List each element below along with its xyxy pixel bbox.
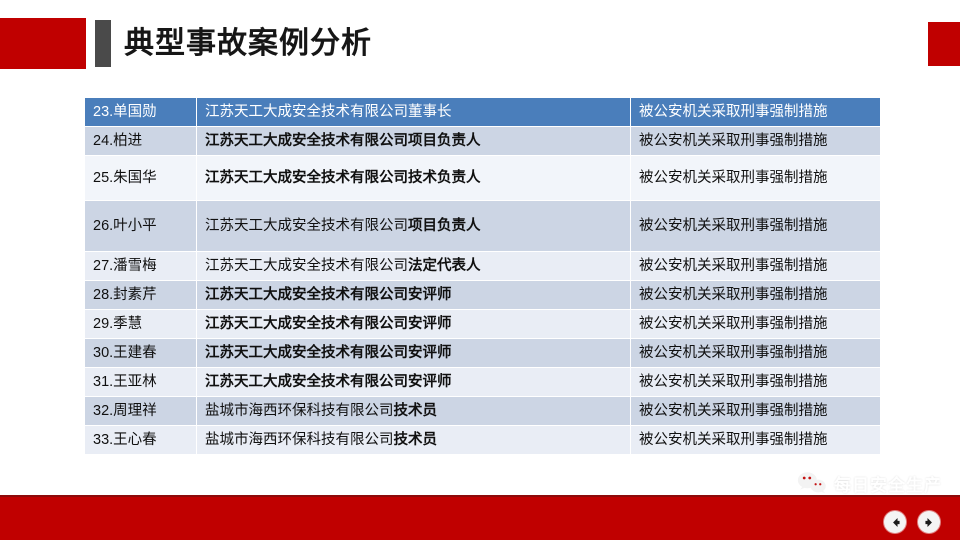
cell-legal-measure: 被公安机关采取刑事强制措施	[631, 156, 881, 201]
table-row[interactable]: 26.叶小平江苏天工大成安全技术有限公司项目负责人被公安机关采取刑事强制措施	[85, 201, 881, 252]
cell-person-name: 25.朱国华	[85, 156, 197, 201]
cell-person-name: 23.单国勋	[85, 98, 197, 127]
table-row[interactable]: 28.封素芹江苏天工大成安全技术有限公司安评师被公安机关采取刑事强制措施	[85, 281, 881, 310]
table-body: 23.单国勋江苏天工大成安全技术有限公司董事长被公安机关采取刑事强制措施24.柏…	[85, 98, 881, 455]
cell-legal-measure: 被公安机关采取刑事强制措施	[631, 397, 881, 426]
cell-company-role: 江苏天工大成安全技术有限公司董事长	[197, 98, 631, 127]
role-title-text: 技术员	[394, 403, 438, 419]
casualty-table: 23.单国勋江苏天工大成安全技术有限公司董事长被公安机关采取刑事强制措施24.柏…	[84, 97, 881, 455]
cell-person-name: 31.王亚林	[85, 368, 197, 397]
role-title-text: 项目负责人	[408, 218, 481, 234]
arrow-right-icon[interactable]	[918, 511, 940, 533]
company-role-text: 江苏天工大成安全技术有限公司安评师	[205, 316, 452, 332]
cell-legal-measure: 被公安机关采取刑事强制措施	[631, 339, 881, 368]
cell-legal-measure: 被公安机关采取刑事强制措施	[631, 426, 881, 455]
cell-company-role: 江苏天工大成安全技术有限公司安评师	[197, 368, 631, 397]
cell-legal-measure: 被公安机关采取刑事强制措施	[631, 98, 881, 127]
wechat-icon	[797, 470, 827, 496]
cell-person-name: 27.潘雪梅	[85, 252, 197, 281]
cell-legal-measure: 被公安机关采取刑事强制措施	[631, 252, 881, 281]
cell-company-role: 盐城市海西环保科技有限公司技术员	[197, 397, 631, 426]
cell-person-name: 33.王心春	[85, 426, 197, 455]
table-row[interactable]: 31.王亚林江苏天工大成安全技术有限公司安评师被公安机关采取刑事强制措施	[85, 368, 881, 397]
casualty-table-container: 23.单国勋江苏天工大成安全技术有限公司董事长被公安机关采取刑事强制措施24.柏…	[84, 97, 880, 455]
footer-red-bar	[0, 495, 960, 540]
cell-company-role: 盐城市海西环保科技有限公司技术员	[197, 426, 631, 455]
cell-person-name: 24.柏进	[85, 127, 197, 156]
company-name-text: 盐城市海西环保科技有限公司	[205, 432, 394, 448]
cell-legal-measure: 被公安机关采取刑事强制措施	[631, 368, 881, 397]
cell-company-role: 江苏天工大成安全技术有限公司安评师	[197, 310, 631, 339]
cell-person-name: 29.季慧	[85, 310, 197, 339]
slide-navigation[interactable]	[884, 511, 940, 533]
cell-company-role: 江苏天工大成安全技术有限公司项目负责人	[197, 201, 631, 252]
company-role-text: 江苏天工大成安全技术有限公司技术负责人	[205, 170, 481, 186]
watermark-label: 每日安全生产	[834, 471, 942, 496]
cell-company-role: 江苏天工大成安全技术有限公司项目负责人	[197, 127, 631, 156]
company-name-text: 江苏天工大成安全技术有限公司	[205, 258, 408, 274]
role-title-text: 技术员	[394, 432, 438, 448]
header-red-block-right	[928, 22, 960, 66]
company-name-text: 江苏天工大成安全技术有限公司	[205, 218, 408, 234]
table-row[interactable]: 33.王心春盐城市海西环保科技有限公司技术员被公安机关采取刑事强制措施	[85, 426, 881, 455]
table-row[interactable]: 30.王建春江苏天工大成安全技术有限公司安评师被公安机关采取刑事强制措施	[85, 339, 881, 368]
cell-person-name: 32.周理祥	[85, 397, 197, 426]
table-row[interactable]: 29.季慧江苏天工大成安全技术有限公司安评师被公安机关采取刑事强制措施	[85, 310, 881, 339]
cell-person-name: 26.叶小平	[85, 201, 197, 252]
page-title: 典型事故案例分析	[124, 22, 372, 66]
company-role-text: 江苏天工大成安全技术有限公司项目负责人	[205, 133, 481, 149]
cell-company-role: 江苏天工大成安全技术有限公司安评师	[197, 339, 631, 368]
cell-company-role: 江苏天工大成安全技术有限公司安评师	[197, 281, 631, 310]
table-row[interactable]: 32.周理祥盐城市海西环保科技有限公司技术员被公安机关采取刑事强制措施	[85, 397, 881, 426]
company-role-text: 江苏天工大成安全技术有限公司安评师	[205, 374, 452, 390]
company-role-text: 江苏天工大成安全技术有限公司安评师	[205, 345, 452, 361]
cell-company-role: 江苏天工大成安全技术有限公司技术负责人	[197, 156, 631, 201]
company-role-text: 江苏天工大成安全技术有限公司安评师	[205, 287, 452, 303]
table-row[interactable]: 25.朱国华江苏天工大成安全技术有限公司技术负责人被公安机关采取刑事强制措施	[85, 156, 881, 201]
cell-legal-measure: 被公安机关采取刑事强制措施	[631, 201, 881, 252]
header-gray-accent-bar	[95, 20, 111, 67]
company-name-text: 盐城市海西环保科技有限公司	[205, 403, 394, 419]
cell-company-role: 江苏天工大成安全技术有限公司法定代表人	[197, 252, 631, 281]
cell-legal-measure: 被公安机关采取刑事强制措施	[631, 127, 881, 156]
slide-canvas: 典型事故案例分析 23.单国勋江苏天工大成安全技术有限公司董事长被公安机关采取刑…	[0, 0, 960, 540]
cell-person-name: 30.王建春	[85, 339, 197, 368]
table-row[interactable]: 27.潘雪梅江苏天工大成安全技术有限公司法定代表人被公安机关采取刑事强制措施	[85, 252, 881, 281]
cell-legal-measure: 被公安机关采取刑事强制措施	[631, 310, 881, 339]
watermark: 每日安全生产	[797, 470, 942, 496]
arrow-left-icon[interactable]	[884, 511, 906, 533]
header-red-block-left	[0, 18, 86, 69]
table-row[interactable]: 23.单国勋江苏天工大成安全技术有限公司董事长被公安机关采取刑事强制措施	[85, 98, 881, 127]
table-row[interactable]: 24.柏进江苏天工大成安全技术有限公司项目负责人被公安机关采取刑事强制措施	[85, 127, 881, 156]
cell-person-name: 28.封素芹	[85, 281, 197, 310]
role-title-text: 法定代表人	[408, 258, 481, 274]
company-role-text: 江苏天工大成安全技术有限公司董事长	[205, 104, 452, 120]
cell-legal-measure: 被公安机关采取刑事强制措施	[631, 281, 881, 310]
